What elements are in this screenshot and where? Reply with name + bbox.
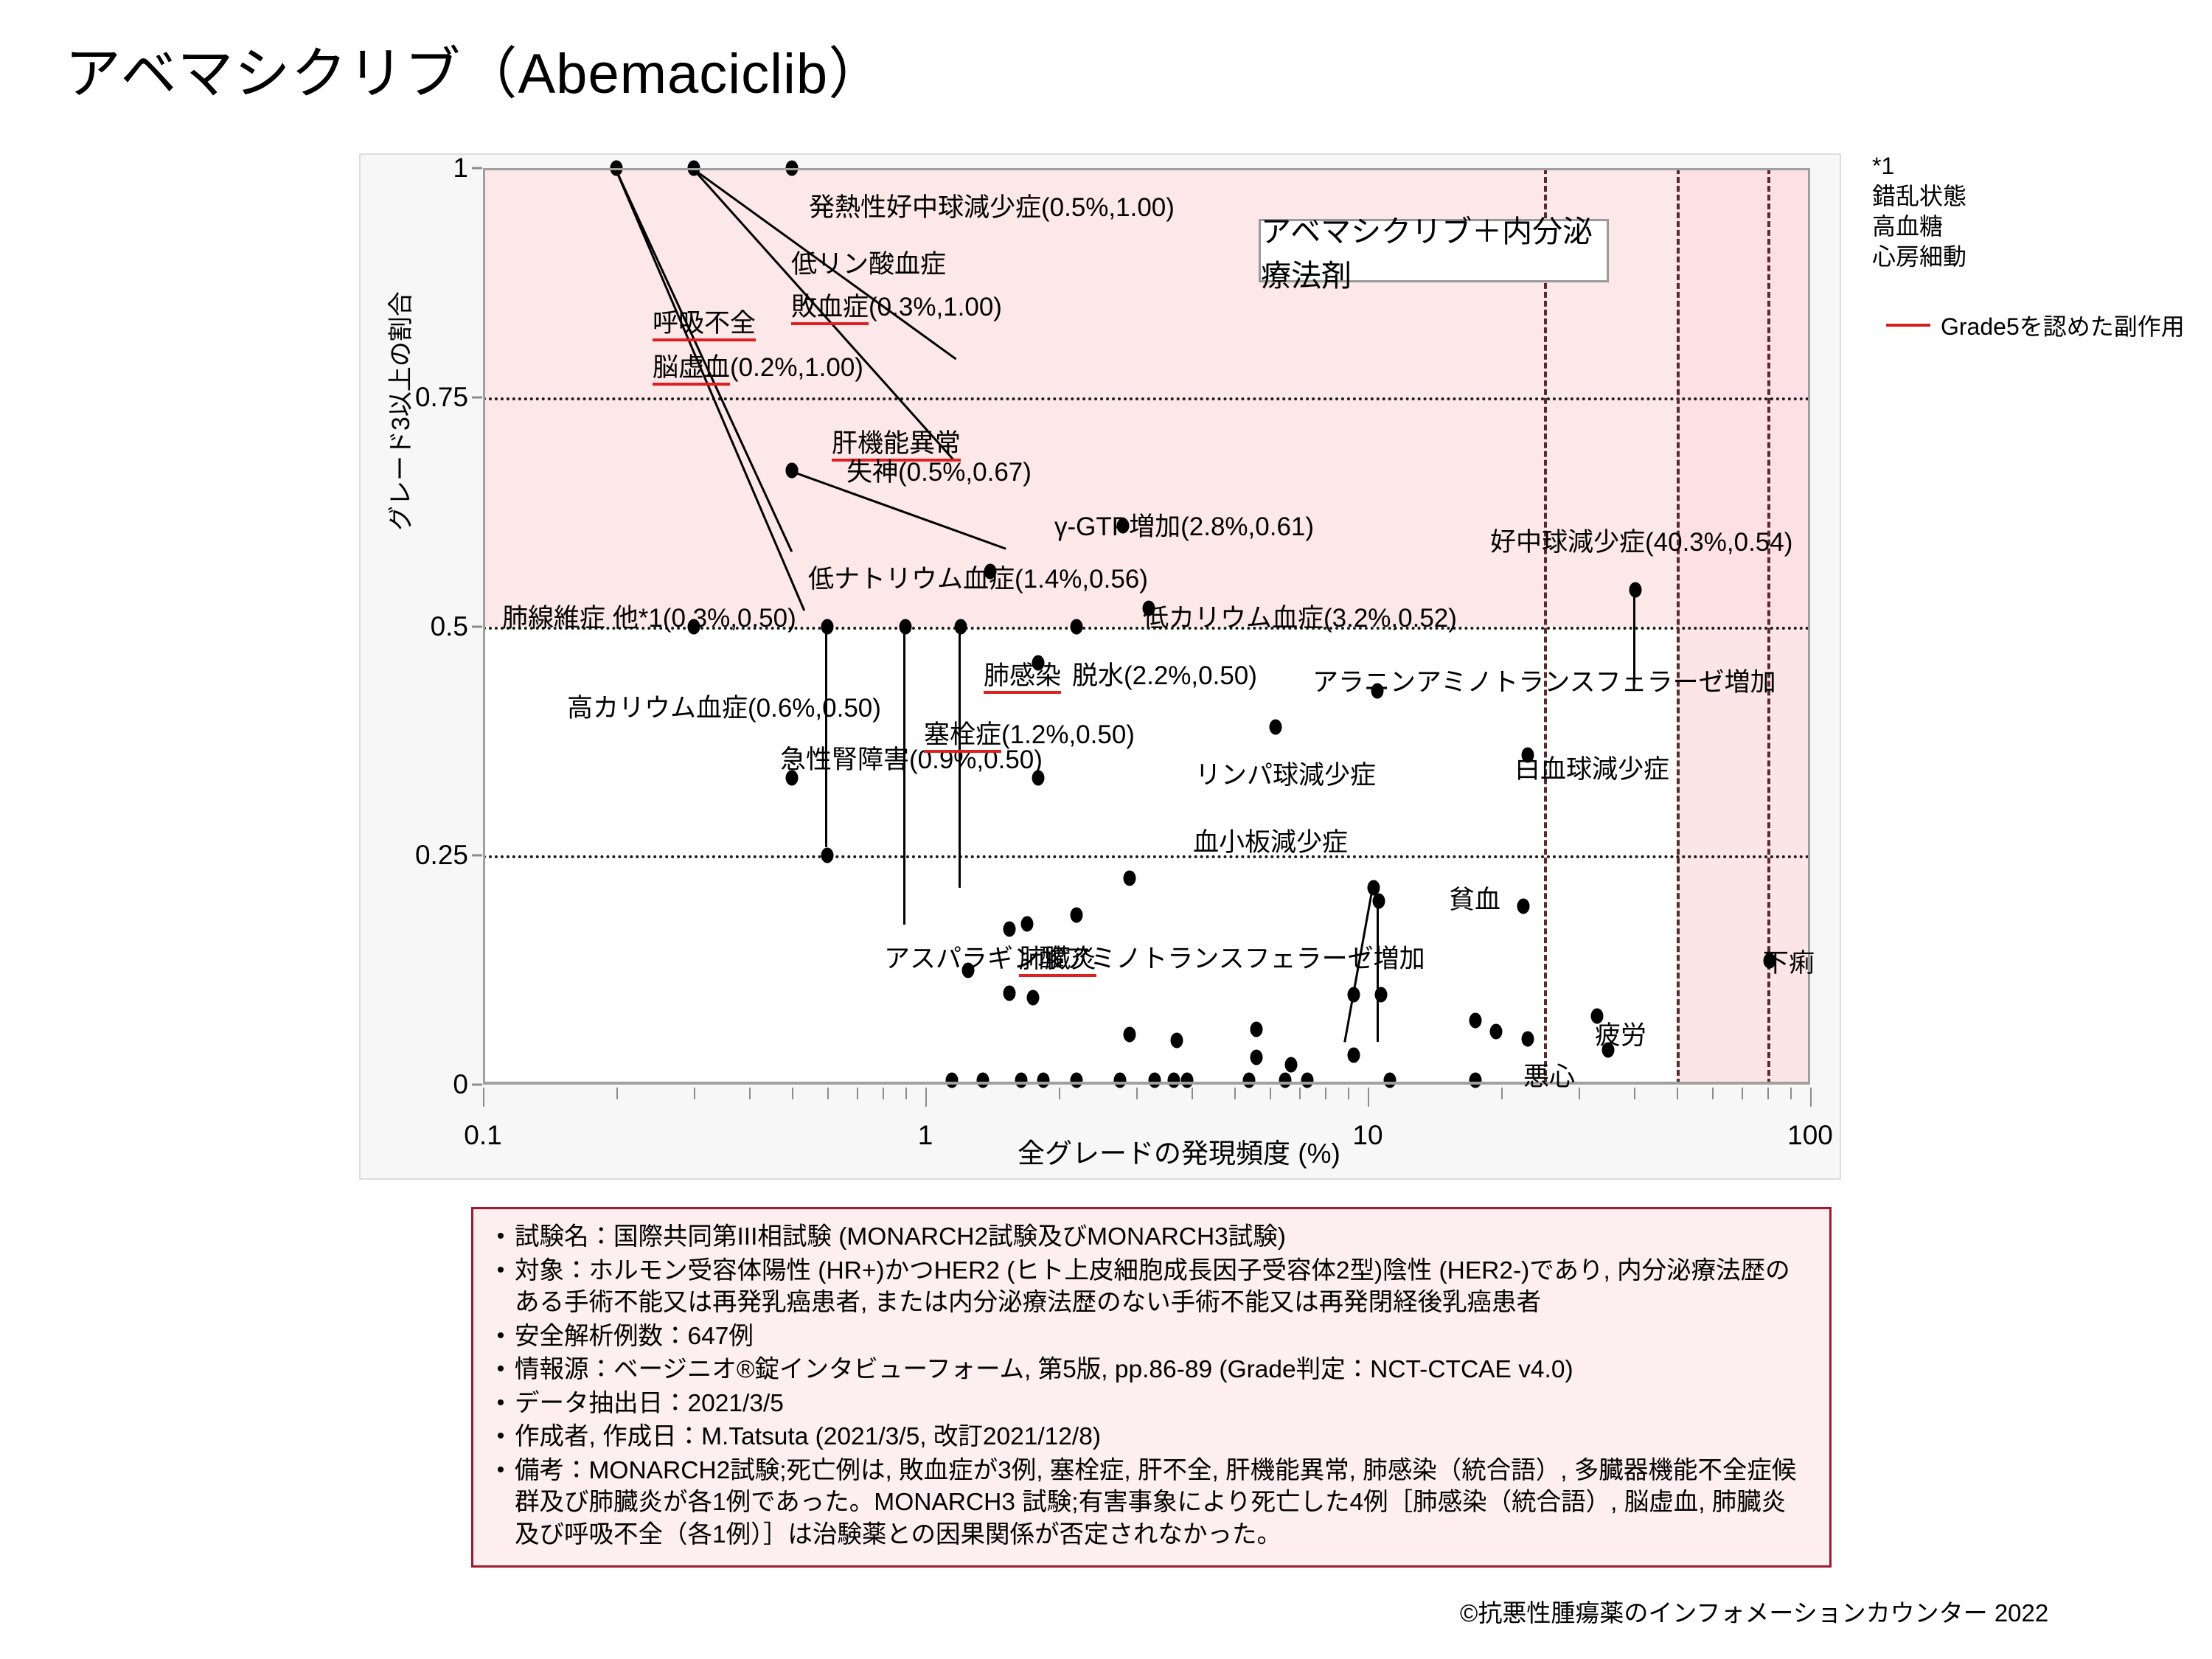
data-label-悪心: 悪心 [1523,1056,1575,1093]
data-point [1301,1072,1313,1088]
data-label-γ-GTP増加: γ-GTP増加(2.8%,0.61) [1054,506,1314,543]
data-label-text: 低リン酸血症 [791,250,946,279]
y-tick-mark [472,167,482,170]
x-tick-mark-minor [905,1088,907,1099]
x-tick-mark-minor [1136,1088,1138,1099]
x-tick-mark-minor [1234,1088,1236,1099]
data-label-呼吸不全: 呼吸不全 [653,302,756,340]
data-label-アラニンアミノトランスフェラーゼ増加: アラニンアミノトランスフェラーゼ増加 [1312,661,1776,699]
study-info-box: •試験名：国際共同第III相試験 (MONARCH2試験及びMONARCH3試験… [471,1207,1832,1568]
bullet-icon: • [487,1421,515,1453]
data-label-text: アスパラギン酸アミノトランスフェラーゼ増加 [884,945,1425,973]
data-label-text: 低カリウム血症(3.2%,0.52) [1143,604,1457,633]
gridline-v-50 [1677,168,1680,1085]
grade5-legend-label: Grade5を認めた副作用 [1941,308,2185,342]
data-label-text: 発熱性好中球減少症(0.5%,1.00) [809,193,1175,222]
data-point [1284,1057,1297,1072]
data-point [1124,1026,1136,1042]
data-label-低ナトリウム血症: 低ナトリウム血症(1.4%,0.56) [808,558,1148,596]
data-label-血小板減少症: 血小板減少症 [1193,821,1348,859]
data-point-好中球減少症 [1630,582,1642,597]
data-point [1250,1022,1262,1037]
grade5-color-swatch [1886,324,1930,327]
info-bullet-text-6: 備考：MONARCH2試験;死亡例は, 敗血症が3例, 塞栓症, 肝不全, 肝機… [515,1455,1810,1551]
x-tick-mark-minor [1712,1088,1714,1099]
info-bullet-text-1: 対象：ホルモン受容体陽性 (HR+)かつHER2 (ヒト上皮細胞成長因子受容体2… [515,1255,1810,1319]
data-point [1490,1023,1503,1039]
data-point [946,1072,959,1088]
data-point [1113,1072,1126,1088]
x-tick-mark-minor [1677,1088,1678,1099]
data-label-肺感染: 肺感染 [984,655,1061,692]
x-tick-mark-major [1810,1088,1812,1107]
data-label-text: アラニンアミノトランスフェラーゼ増加 [1312,668,1776,697]
grade5-underlined-name: 肺感染 [984,661,1061,694]
data-label-text: 疲労 [1595,1021,1646,1050]
data-point [1383,1072,1396,1088]
data-point-貧血 [1517,898,1530,914]
data-label-貧血: 貧血 [1449,879,1500,917]
data-label-アスパラギン酸アミノトランスフェラーゼ増加: アスパラギン酸アミノトランスフェラーゼ増加 [884,938,1425,975]
gridline-h-0.25 [483,855,1810,858]
x-tick-mark-minor [1501,1088,1503,1099]
y-tick-mark [472,1084,482,1086]
data-point [1124,871,1136,886]
data-label-text: 脱水(2.2%,0.50) [1072,661,1257,690]
data-point [1071,908,1083,923]
info-bullet-row: •安全解析例数：647例 [487,1321,1810,1353]
x-tick-mark-minor [1270,1088,1271,1099]
data-label-肺線維症 他*1: 肺線維症 他*1(0.3%,0.50) [502,597,796,635]
data-label-text: 失神(0.5%,0.67) [846,458,1032,487]
x-tick-mark-minor [616,1088,618,1099]
info-bullet-text-2: 安全解析例数：647例 [515,1321,1810,1353]
x-tick-mark-minor [1059,1088,1060,1099]
data-point-肺臓炎 [1021,917,1034,932]
x-tick-label-0.1: 0.1 [464,1120,501,1151]
data-point [1015,1072,1028,1088]
page-title: アベマシクリブ（Abemaciclib） [65,28,885,109]
bullet-icon: • [487,1255,515,1319]
data-label-好中球減少症: 好中球減少症(40.3%,0.54) [1490,521,1792,559]
x-tick-mark-minor [1634,1088,1635,1099]
x-tick-mark-minor [1348,1088,1349,1099]
data-label-text: γ-GTP増加(2.8%,0.61) [1054,512,1314,541]
y-tick-label-1: 1 [387,153,468,184]
y-tick-label-0: 0 [387,1069,468,1100]
data-label-text: リンパ球減少症 [1195,761,1376,790]
y-tick-label-0.25: 0.25 [387,840,468,871]
data-label-text: 肺線維症 他*1(0.3%,0.50) [502,604,796,633]
data-label-脳虚血: 脳虚血(0.2%,1.00) [653,347,863,384]
data-point [1348,1048,1360,1063]
info-bullet-row: •データ抽出日：2021/3/5 [487,1388,1810,1420]
info-bullet-row: •試験名：国際共同第III相試験 (MONARCH2試験及びMONARCH3試験… [487,1221,1810,1253]
x-tick-mark-minor [1767,1088,1769,1099]
bullet-icon: • [487,1354,515,1386]
footnote-marker: *1 [1872,151,1966,181]
x-tick-mark-minor [792,1088,793,1099]
data-label-白血球減少症: 白血球減少症 [1514,748,1669,786]
data-label-失神: 失神(0.5%,0.67) [846,451,1032,489]
data-point [1037,1072,1050,1088]
info-bullet-row: •対象：ホルモン受容体陽性 (HR+)かつHER2 (ヒト上皮細胞成長因子受容体… [487,1255,1810,1319]
data-point [1004,985,1016,1001]
data-label-下痢: 下痢 [1763,942,1815,980]
data-point-アスパラギン酸アミノトランスフェラーゼ増加 [1373,894,1385,909]
x-tick-mark-minor [1299,1088,1301,1099]
data-point-発熱性好中球減少症 [786,161,799,176]
info-bullet-row: •作成者, 作成日：M.Tatsuta (2021/3/5, 改訂2021/12… [487,1421,1810,1453]
data-label-text: 高カリウム血症(0.6%,0.50) [567,694,881,723]
data-label-脱水: 脱水(2.2%,0.50) [1072,655,1257,692]
data-label-value: (0.3%,1.00) [869,293,1002,321]
data-label-value: (0.2%,1.00) [730,353,863,382]
gridline-h-0.75 [483,397,1810,400]
x-tick-mark-minor [749,1088,751,1099]
x-tick-mark-major [925,1088,927,1107]
x-tick-mark-minor [883,1088,884,1099]
leader-line [825,627,827,847]
data-point [1522,1031,1534,1046]
data-label-発熱性好中球減少症: 発熱性好中球減少症(0.5%,1.00) [809,187,1175,224]
info-bullet-row: •備考：MONARCH2試験;死亡例は, 敗血症が3例, 塞栓症, 肝不全, 肝… [487,1455,1810,1551]
y-tick-label-0.5: 0.5 [387,611,468,642]
data-label-text: 悪心 [1523,1062,1575,1091]
data-label-text: 血小板減少症 [1193,828,1348,857]
y-tick-label-0.75: 0.75 [387,382,468,413]
x-axis-title: 全グレードの発現頻度 (%) [1018,1131,1340,1171]
x-tick-mark-major [483,1088,484,1107]
x-tick-mark-minor [827,1088,829,1099]
data-label-text: 低ナトリウム血症(1.4%,0.56) [808,565,1148,594]
bullet-icon: • [487,1388,515,1420]
x-tick-label-10: 10 [1352,1120,1382,1151]
x-tick-label-1: 1 [918,1120,933,1151]
copyright-footer: ©抗悪性腫瘍薬のインフォメーションカウンター 2022 [1460,1593,2048,1629]
grade5-underlined-name: 敗血症 [791,293,869,325]
data-point [1149,1072,1161,1088]
footnote-block: *1 錯乱状態 高血糖 心房細動 [1872,151,1966,272]
data-point [1180,1072,1193,1088]
y-tick-mark [472,625,482,627]
data-label-低リン酸血症: 低リン酸血症 [791,243,946,281]
grade5-legend: Grade5を認めた副作用 [1886,308,2185,342]
x-tick-mark-minor [857,1088,858,1099]
y-tick-mark [472,396,482,398]
info-bullet-text-4: データ抽出日：2021/3/5 [515,1388,1810,1420]
info-bullet-row: •情報源：ベージニオ®錠インタビューフォーム, 第5版, pp.86-89 (G… [487,1354,1810,1386]
info-bullet-text-0: 試験名：国際共同第III相試験 (MONARCH2試験及びMONARCH3試験) [515,1221,1810,1253]
x-tick-mark-minor [1790,1088,1792,1099]
data-label-リンパ球減少症: リンパ球減少症 [1195,754,1376,792]
x-tick-mark-minor [1192,1088,1193,1099]
grade5-underlined-name: 脳虚血 [653,353,730,386]
bullet-icon: • [487,1321,515,1353]
data-label-text: 白血球減少症 [1514,755,1669,784]
data-point [1026,990,1039,1005]
data-label-text: 貧血 [1449,886,1500,914]
grade5-underlined-name: 肺臓炎 [1019,945,1096,977]
bullet-icon: • [487,1455,515,1551]
data-label-肺臓炎: 肺臓炎 [1019,938,1096,975]
data-point [1243,1072,1256,1088]
bullet-icon: • [487,1221,515,1253]
data-point [1469,1072,1481,1088]
grade5-underlined-name: 呼吸不全 [653,309,756,341]
data-point [1250,1049,1262,1065]
data-point [1071,1072,1083,1088]
x-tick-mark-minor [1325,1088,1326,1099]
info-bullet-text-3: 情報源：ベージニオ®錠インタビューフォーム, 第5版, pp.86-89 (Gr… [515,1354,1810,1386]
data-label-塞栓症: 塞栓症(1.2%,0.50) [924,714,1135,751]
x-tick-label-100: 100 [1787,1120,1833,1151]
data-label-敗血症: 敗血症(0.3%,1.00) [791,286,1002,324]
data-point [1170,1033,1183,1048]
series-legend-label: アベマシクリブ＋内分泌療法剤 [1261,206,1607,295]
x-tick-mark-minor [694,1088,695,1099]
data-label-value: (1.2%,0.50) [1001,720,1135,749]
data-point [1168,1072,1180,1088]
data-point [821,848,833,863]
data-label-高カリウム血症: 高カリウム血症(0.6%,0.50) [567,687,881,725]
grade5-underlined-name: 塞栓症 [924,720,1001,753]
data-point [1279,1072,1291,1088]
footnote-item-0: 錯乱状態 [1872,181,1966,212]
data-point-リンパ球減少症 [1270,720,1282,735]
x-tick-mark-major [1368,1088,1369,1107]
data-point [1004,921,1016,936]
data-point [977,1072,990,1088]
gridline-v-25 [1544,168,1547,1085]
data-label-疲労: 疲労 [1595,1015,1646,1052]
info-bullet-text-5: 作成者, 作成日：M.Tatsuta (2021/3/5, 改訂2021/12/… [515,1421,1810,1453]
data-point [1469,1012,1481,1028]
data-label-text: 好中球減少症(40.3%,0.54) [1490,528,1792,557]
series-legend-box: アベマシクリブ＋内分泌療法剤 [1259,219,1609,282]
data-label-text: 下痢 [1763,949,1815,978]
footnote-item-1: 高血糖 [1872,212,1966,242]
data-label-低カリウム血症: 低カリウム血症(3.2%,0.52) [1143,597,1457,635]
x-tick-mark-minor [1742,1088,1743,1099]
data-point-脱水 [1071,619,1083,634]
footnote-item-2: 心房細動 [1872,242,1966,272]
x-tick-mark-minor [1579,1088,1580,1099]
y-tick-mark [472,855,482,857]
